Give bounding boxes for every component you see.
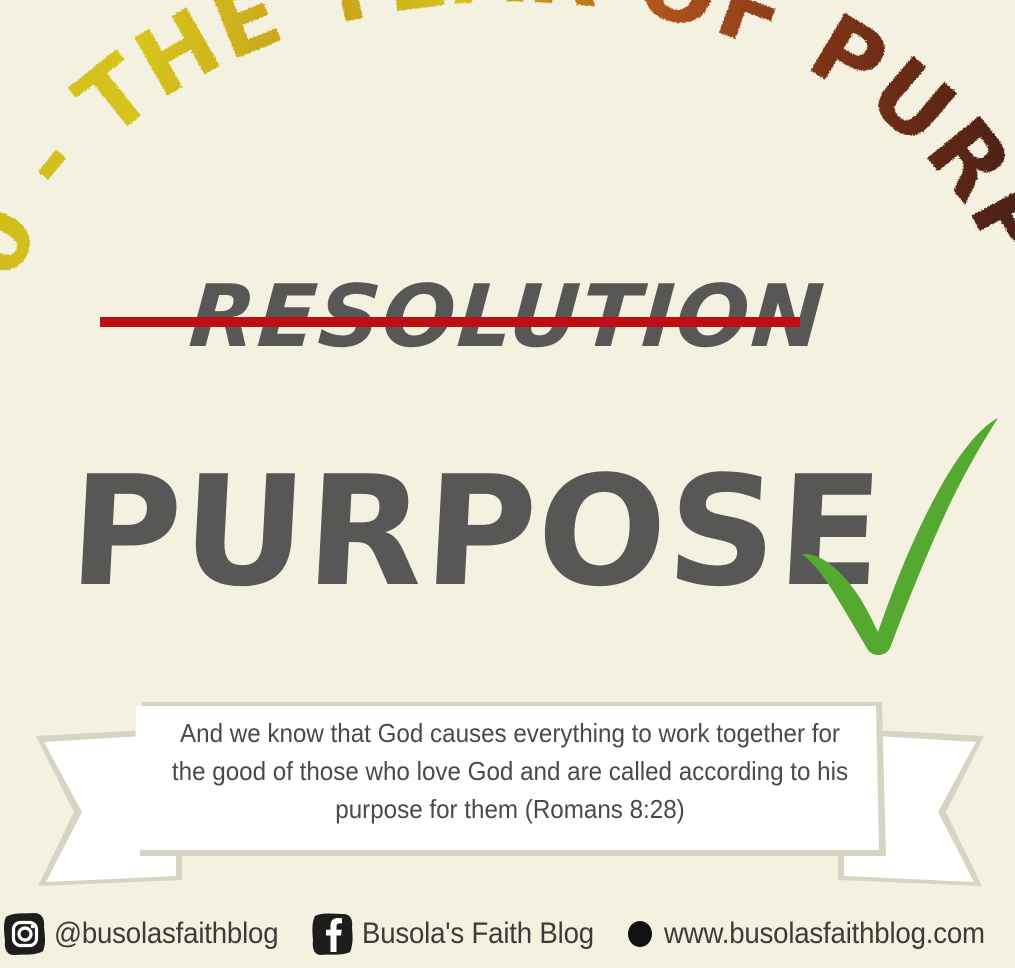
headline-arc: 2020 - THE YEAR OF PURPOSE bbox=[0, 0, 1015, 290]
poster-canvas: 2020 - THE YEAR OF PURPOSE RESOLUTION PU… bbox=[0, 0, 1015, 968]
instagram-handle[interactable]: @busolasfaithblog bbox=[54, 917, 278, 951]
dot-bullet-icon bbox=[628, 921, 652, 947]
instagram-item[interactable]: @busolasfaithblog bbox=[2, 910, 298, 958]
strikethrough-line bbox=[100, 317, 800, 327]
resolution-block: RESOLUTION bbox=[0, 262, 1015, 392]
headline-text: 2020 - THE YEAR OF PURPOSE bbox=[0, 0, 1015, 290]
verse-ribbon: And we know that God causes everything t… bbox=[30, 690, 990, 890]
check-mark-icon bbox=[798, 412, 1008, 657]
website-item[interactable]: www.busolasfaithblog.com bbox=[664, 917, 1013, 951]
purpose-block: PURPOSE bbox=[0, 420, 1015, 660]
bible-verse-text: And we know that God causes everything t… bbox=[171, 714, 850, 828]
facebook-icon[interactable] bbox=[310, 910, 356, 958]
footer-bar: @busolasfaithblog Busola's Faith Blog ww… bbox=[0, 900, 1015, 968]
facebook-item[interactable]: Busola's Faith Blog bbox=[310, 910, 614, 958]
instagram-icon[interactable] bbox=[2, 910, 48, 958]
facebook-page-name[interactable]: Busola's Faith Blog bbox=[362, 917, 594, 951]
website-url[interactable]: www.busolasfaithblog.com bbox=[664, 917, 985, 951]
purpose-word: PURPOSE bbox=[66, 452, 887, 612]
